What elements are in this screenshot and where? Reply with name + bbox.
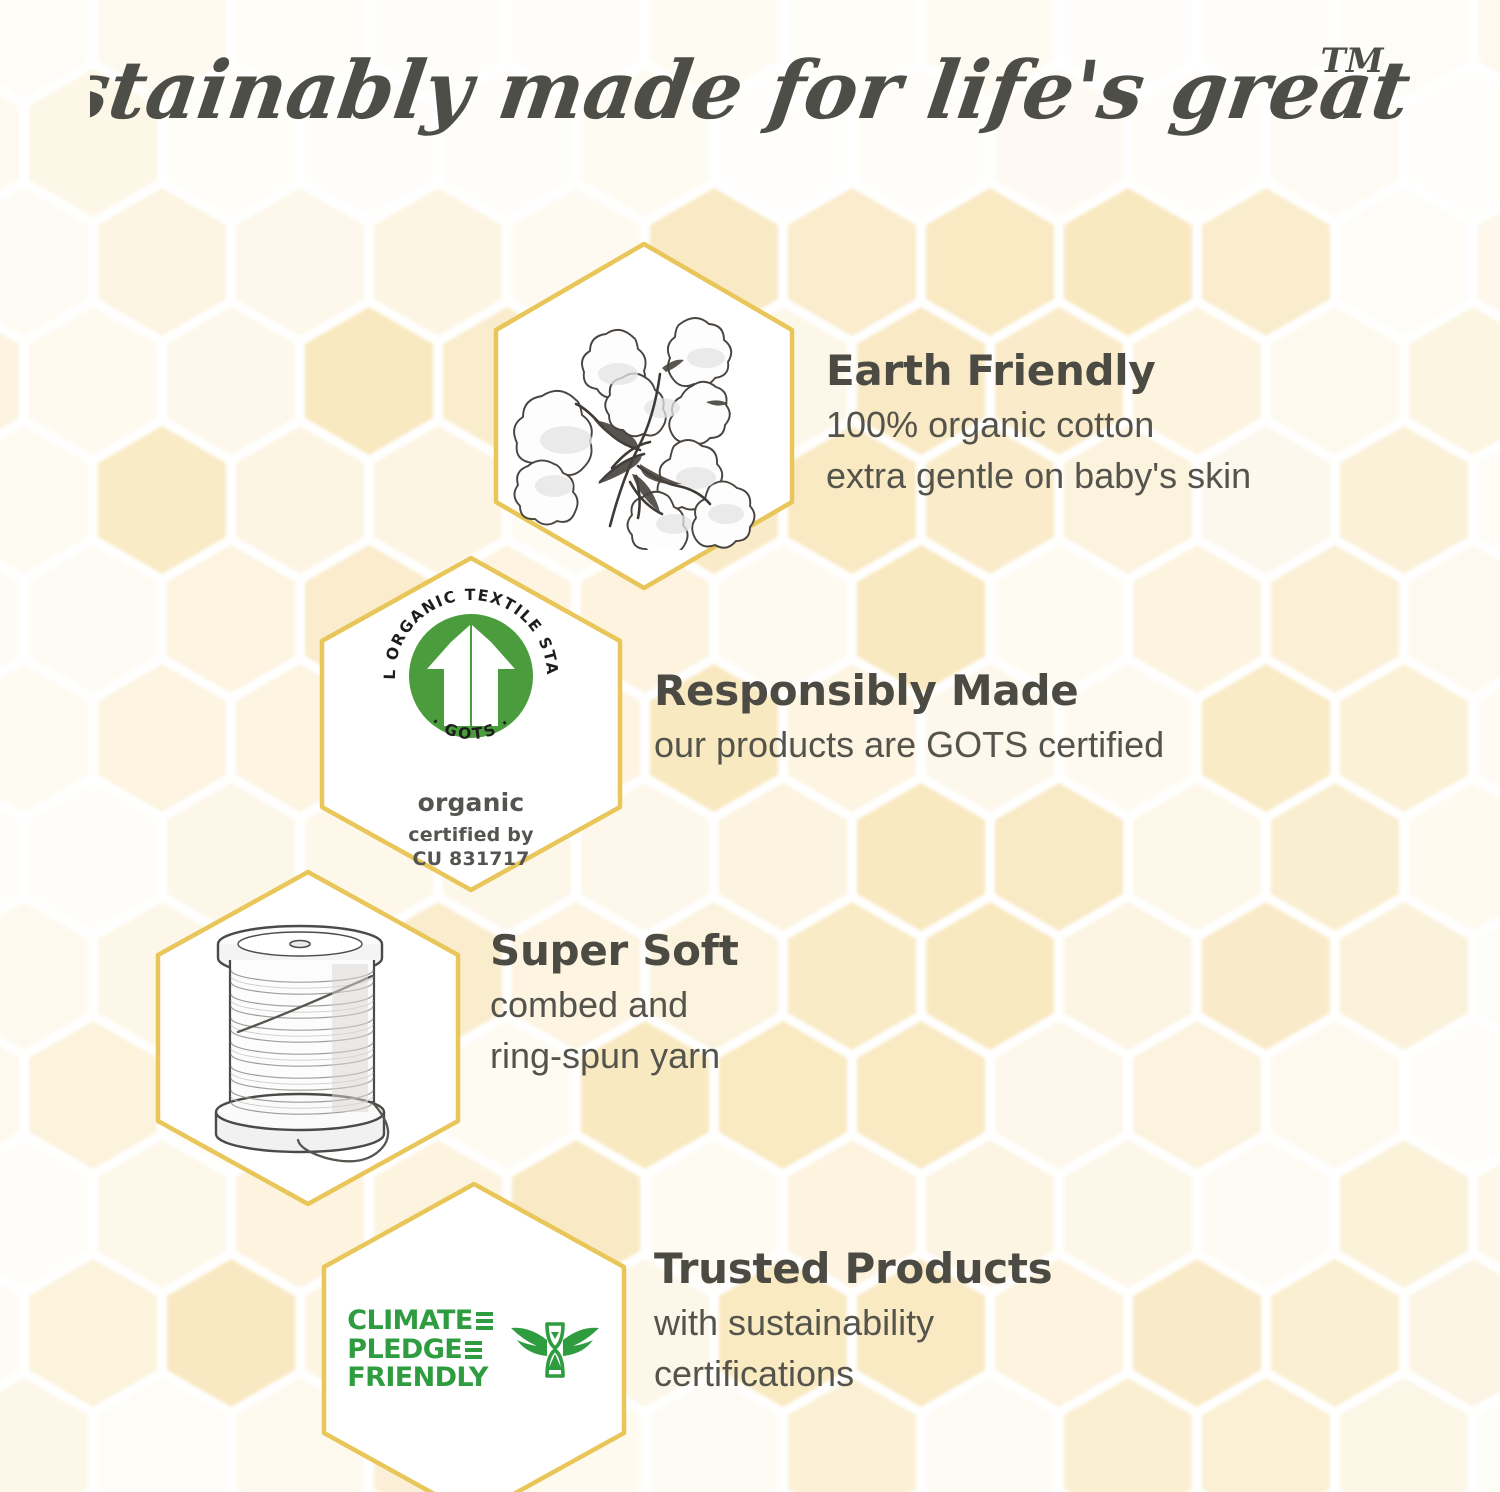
feature-text-trusted-products: Trusted Products with sustainability cer…: [654, 1248, 1214, 1397]
gots-organic-label: organic: [418, 788, 525, 817]
hexagon-card-responsibly-made: GLOBAL ORGANIC TEXTILE STANDARD · GOTS ·…: [310, 552, 632, 896]
feature-responsibly-made: GLOBAL ORGANIC TEXTILE STANDARD · GOTS ·…: [310, 552, 632, 896]
gots-certified-by-line: certified by: [408, 824, 533, 848]
gots-certification-icon: GLOBAL ORGANIC TEXTILE STANDARD · GOTS ·…: [371, 576, 571, 872]
cotton-boll-icon: [510, 282, 778, 550]
feature-super-soft: Super Soft combed and ring-spun yarn: [146, 866, 470, 1210]
winged-hourglass-icon: [509, 1314, 601, 1386]
feature-desc-line-2: certifications: [654, 1351, 1214, 1397]
gots-certified-by-label: certified by CU 831717: [408, 824, 533, 872]
feature-earth-friendly: Earth Friendly 100% organic cotton extra…: [484, 238, 804, 594]
feature-title: Super Soft: [490, 930, 1010, 972]
feature-trusted-products: CLIMATE PLEDGE FRIENDLY: [312, 1178, 636, 1492]
headline-script-text: sustainably made for life's greatest joy…: [90, 34, 1410, 154]
feature-title: Responsibly Made: [654, 670, 1394, 712]
thread-spool-icon: [182, 904, 434, 1172]
climate-pledge-friendly-wordmark: CLIMATE PLEDGE FRIENDLY: [347, 1307, 492, 1393]
feature-text-earth-friendly: Earth Friendly 100% organic cotton extra…: [826, 350, 1446, 499]
feature-desc-line-1: combed and: [490, 982, 1010, 1028]
feature-desc-line-2: ring-spun yarn: [490, 1033, 1010, 1079]
gots-seal-icon: GLOBAL ORGANIC TEXTILE STANDARD · GOTS ·: [371, 576, 571, 776]
cpf-line-3: FRIENDLY: [347, 1364, 487, 1393]
hexagon-card-super-soft: [146, 866, 470, 1210]
trademark-symbol: TM: [1321, 41, 1385, 81]
cpf-line-1: CLIMATE: [347, 1307, 472, 1336]
feature-desc-line-1: our products are GOTS certified: [654, 722, 1394, 768]
headline-label: sustainably made for life's greatest joy: [90, 43, 1410, 137]
hexagon-card-earth-friendly: [484, 238, 804, 594]
feature-text-super-soft: Super Soft combed and ring-spun yarn: [490, 930, 1010, 1079]
cpf-bars-icon: [465, 1341, 482, 1359]
feature-desc-line-1: with sustainability: [654, 1300, 1214, 1346]
feature-text-responsibly-made: Responsibly Made our products are GOTS c…: [654, 670, 1394, 768]
promo-banner: sustainably made for life's greatest joy…: [0, 0, 1500, 1492]
feature-title: Trusted Products: [654, 1248, 1214, 1290]
feature-title: Earth Friendly: [826, 350, 1446, 392]
page-title: sustainably made for life's greatest joy…: [0, 34, 1500, 154]
climate-pledge-friendly-icon: CLIMATE PLEDGE FRIENDLY: [347, 1307, 600, 1393]
feature-desc-line-1: 100% organic cotton: [826, 402, 1446, 448]
hexagon-card-trusted-products: CLIMATE PLEDGE FRIENDLY: [312, 1178, 636, 1492]
cpf-line-2: PLEDGE: [347, 1336, 462, 1365]
feature-desc-line-2: extra gentle on baby's skin: [826, 453, 1446, 499]
cpf-bars-icon: [476, 1312, 493, 1330]
